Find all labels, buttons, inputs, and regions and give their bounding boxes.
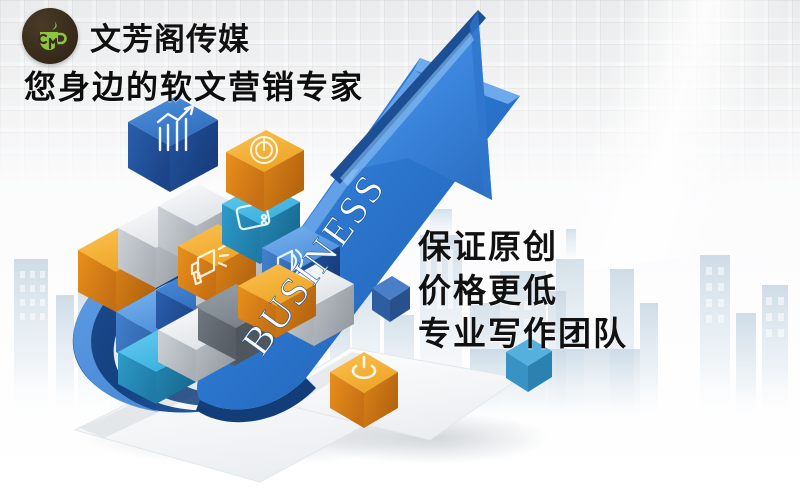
selling-point-2: 价格更低 [418,269,628,313]
city-skyline-silhouette [0,163,800,423]
cube-bar-chart [128,96,218,192]
selling-points-list: 保证原创 价格更低 专业写作团队 [418,225,628,356]
coffee-cup-logo-icon [22,8,78,64]
selling-point-1: 保证原创 [418,225,628,269]
target-icon [251,137,277,163]
megaphone-icon [192,245,228,284]
brand-name: 文芳阁传媒 [90,14,250,59]
cube-power [330,352,398,428]
tv-icon [236,192,270,230]
selling-point-3: 专业写作团队 [418,312,628,356]
cube-small-blue [372,276,410,322]
power-icon [353,357,375,378]
cube-broadcast [262,226,340,308]
brand-row: 文芳阁传媒 [22,8,250,64]
cube-tv [222,182,300,264]
bar-chart-icon [158,106,193,150]
marketing-banner: BUSINESS 文芳阁传媒 您身边的软文营销专家 保证原创 价格更低 专业写作… [0,0,800,493]
svg-text:BUSINESS: BUSINESS [233,165,395,364]
cube-target [226,130,304,212]
brand-tagline: 您身边的软文营销专家 [24,62,364,108]
arrow-business-label: BUSINESS [233,165,395,364]
cube-megaphone [178,224,256,306]
cube-stack [78,182,354,404]
broadcast-icon [278,250,302,280]
